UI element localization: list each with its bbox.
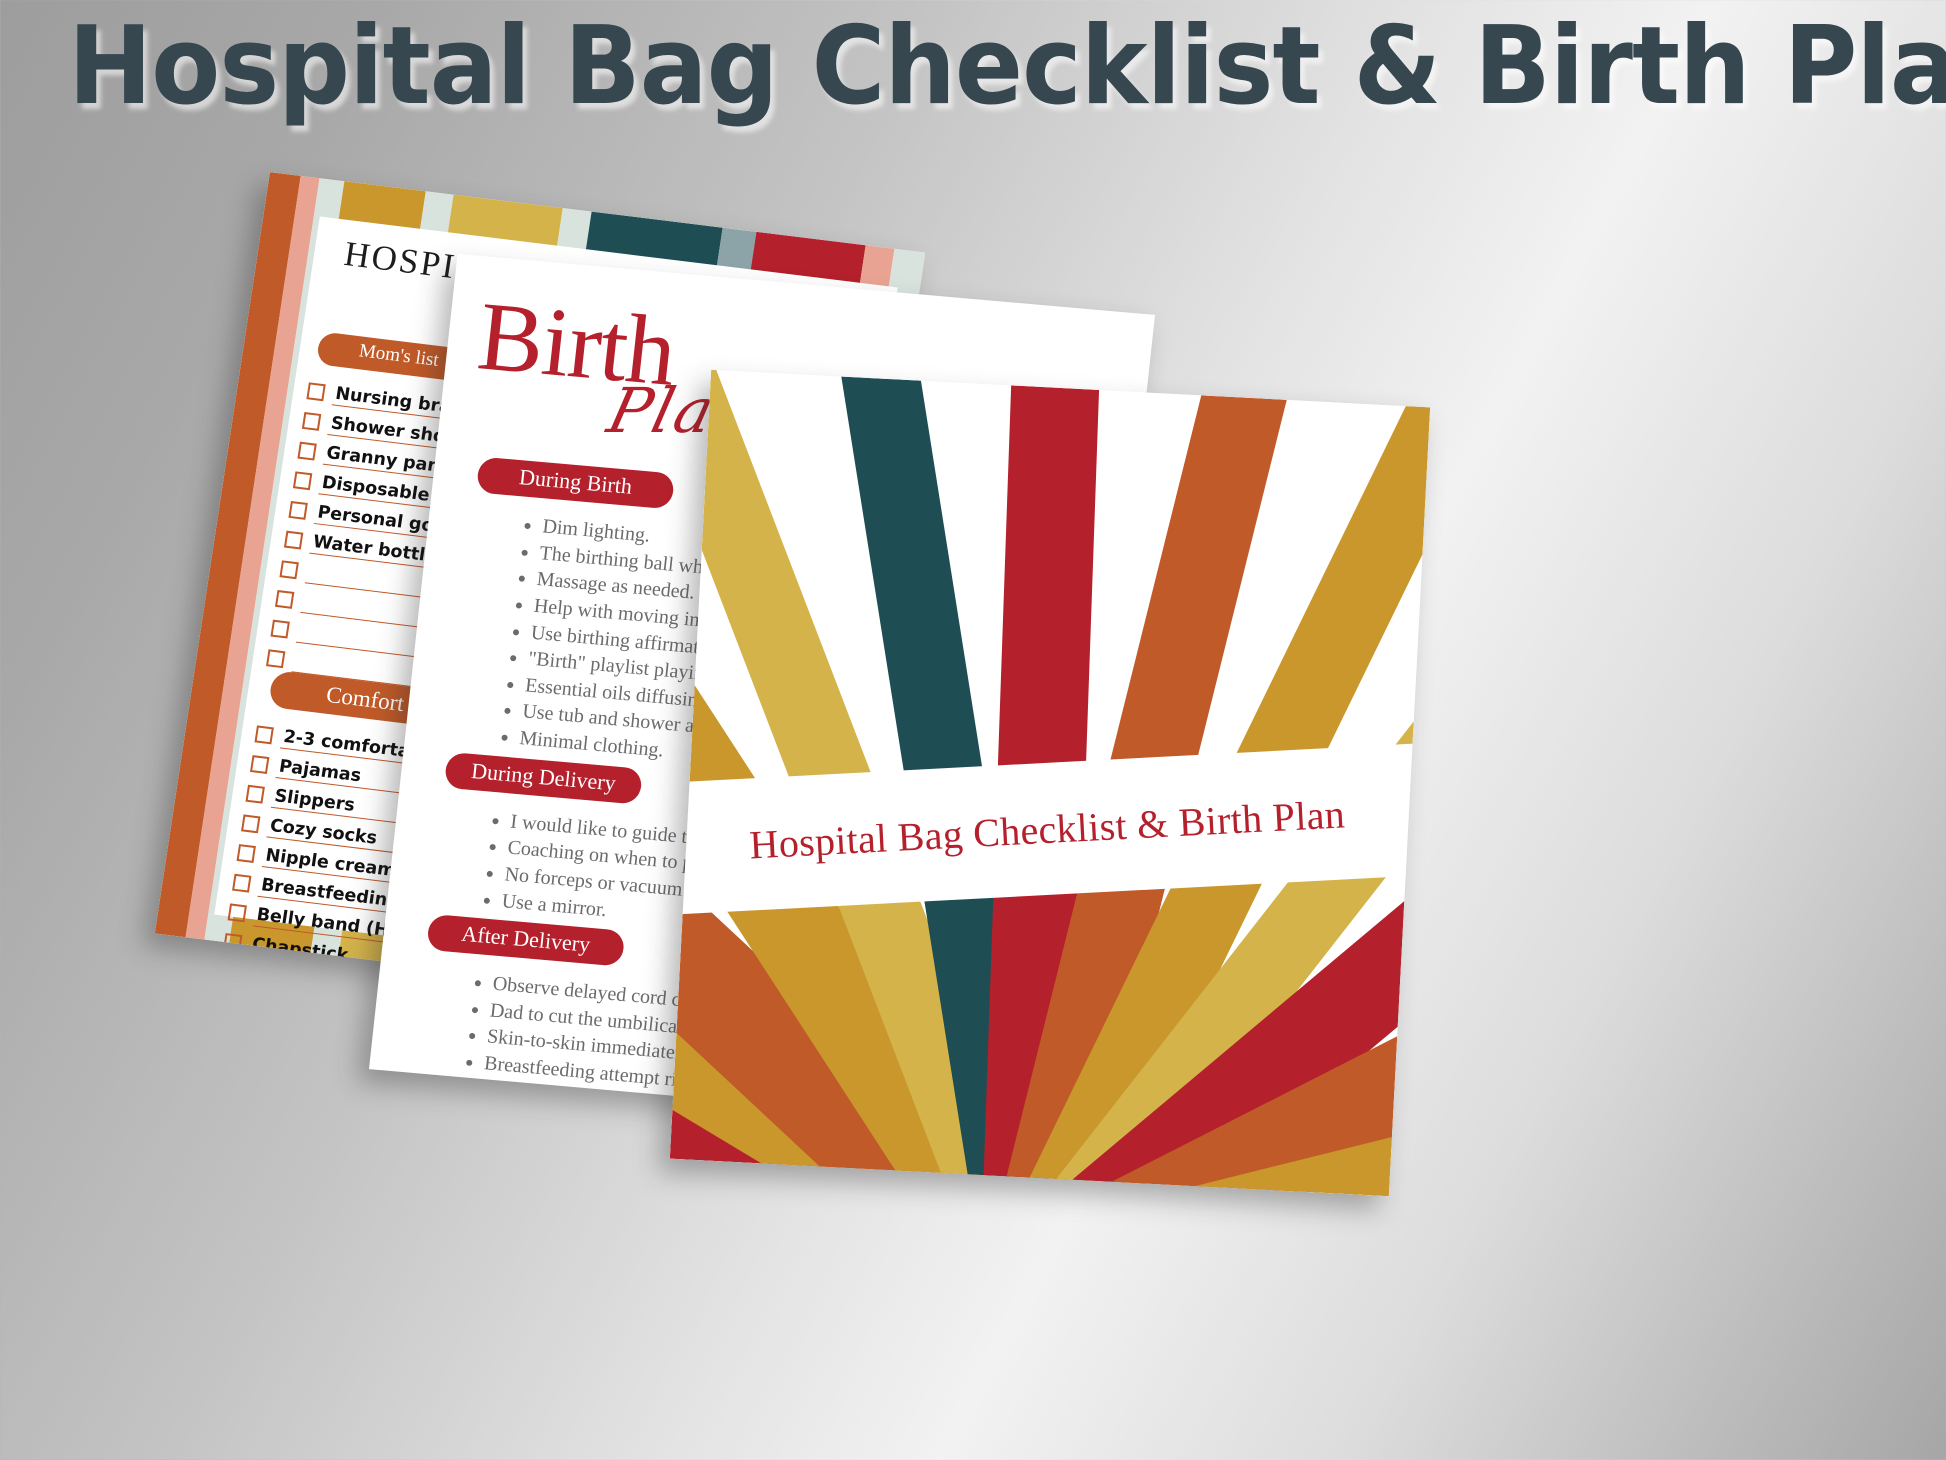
checkbox-icon[interactable] xyxy=(297,442,316,461)
checkbox-icon[interactable] xyxy=(245,785,264,804)
checkbox-icon[interactable] xyxy=(250,755,269,774)
checkbox-icon[interactable] xyxy=(306,382,325,401)
checkbox-icon[interactable] xyxy=(302,412,321,431)
checkbox-icon[interactable] xyxy=(284,531,303,550)
checkbox-icon[interactable] xyxy=(279,560,298,579)
checklist-item-label: Going home ou xyxy=(246,964,397,1002)
checkbox-icon[interactable] xyxy=(214,993,233,1012)
checkbox-icon[interactable] xyxy=(236,844,255,863)
checkbox-icon[interactable] xyxy=(270,620,289,639)
checkbox-icon[interactable] xyxy=(228,904,247,923)
checkbox-icon[interactable] xyxy=(275,590,294,609)
cover-page[interactable]: Hospital Bag Checklist & Birth Plan xyxy=(670,370,1430,1197)
checkbox-icon[interactable] xyxy=(288,501,307,520)
checkbox-icon[interactable] xyxy=(219,963,238,982)
checkbox-icon[interactable] xyxy=(266,649,285,668)
checkbox-icon[interactable] xyxy=(223,933,242,952)
page-title: Hospital Bag Checklist & Birth Plan xyxy=(68,8,1878,127)
checkbox-icon[interactable] xyxy=(254,726,273,745)
checkbox-icon[interactable] xyxy=(293,471,312,490)
checklist-item-label: Chapstick xyxy=(251,935,350,967)
cover-title: Hospital Bag Checklist & Birth Plan xyxy=(749,790,1347,868)
checkbox-icon[interactable] xyxy=(241,815,260,834)
checkbox-icon[interactable] xyxy=(232,874,251,893)
